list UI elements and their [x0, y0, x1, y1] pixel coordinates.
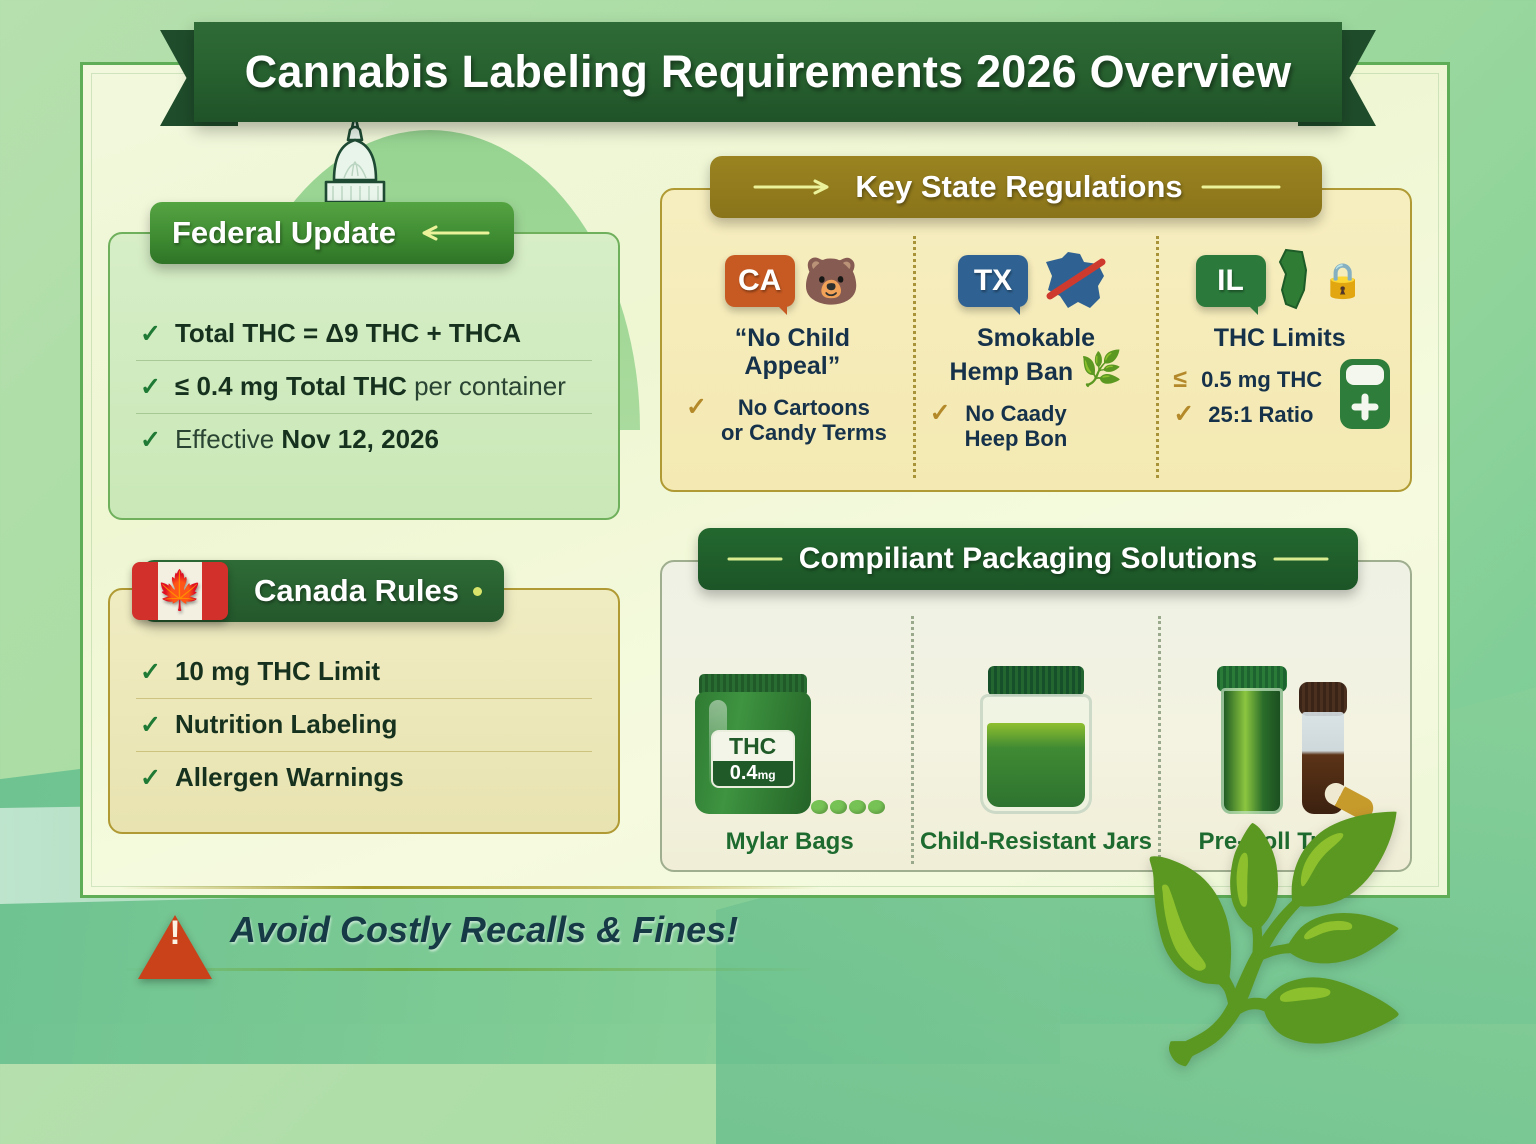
canada-item-2-text: Allergen Warnings [175, 763, 404, 793]
state-column-il: IL 🔒 THC Limits ≤ 0.5 mg THC ✓ 25:1 Rati… [1156, 236, 1400, 478]
texas-map-no-icon [1036, 248, 1114, 315]
canada-rules-title: Canada Rules [254, 573, 459, 609]
illinois-map-icon [1274, 248, 1314, 315]
check-icon: ✓ [140, 764, 161, 793]
arrow-left-icon [414, 225, 492, 241]
state-columns: CA 🐻 “No Child Appeal” ✓ No Cartoons or … [662, 190, 1410, 490]
tube-and-vial-icon [1215, 638, 1349, 814]
federal-item-2-date: Nov 12, 2026 [281, 424, 439, 454]
packaging-label-0: Mylar Bags [726, 828, 854, 856]
list-item: ✓ ≤ 0.4 mg Total THC per container [136, 360, 592, 413]
packaging-item-child-resistant-jars: Child-Resistant Jars [911, 616, 1157, 864]
check-icon: ✓ [140, 658, 161, 687]
list-item: ✓ No Cartoons or Candy Terms [686, 390, 899, 449]
title-ribbon: Cannabis Labeling Requirements 2026 Over… [0, 22, 1536, 132]
federal-update-card: Federal Update ✓ Total THC = Δ9 THC + TH… [108, 232, 620, 520]
list-item: ✓ Total THC = Δ9 THC + THCA [136, 308, 592, 360]
bullet-dot-icon [473, 587, 482, 596]
key-state-regulations-title: Key State Regulations [855, 169, 1182, 205]
cannabis-buds-icon [811, 800, 885, 814]
divider-line-left-icon [727, 556, 783, 562]
footer-rule-bottom [120, 968, 820, 971]
canada-item-1-text: Nutrition Labeling [175, 710, 397, 740]
state-tx-title-line1: Smokable [977, 324, 1095, 352]
check-icon: ✓ [930, 399, 951, 428]
state-tx-code: TX [974, 264, 1012, 298]
state-ca-bullets: ✓ No Cartoons or Candy Terms [686, 390, 899, 449]
thc-jar-icon: THC 0.4mg [695, 638, 885, 814]
list-item: ✓ No Caady Heep Bon [930, 396, 1143, 455]
divider-line-right-icon [1273, 556, 1329, 562]
state-il-bullets: ≤ 0.5 mg THC ✓ 25:1 Ratio [1173, 362, 1386, 432]
state-tx-title-line2: Hemp Ban [950, 358, 1074, 386]
federal-update-list: ✓ Total THC = Δ9 THC + THCA ✓ ≤ 0.4 mg T… [110, 234, 618, 476]
state-ca-code: CA [738, 264, 781, 298]
footer-warning: ! Avoid Costly Recalls & Fines! [138, 898, 738, 962]
state-il-bullet-1: 25:1 Ratio [1208, 402, 1313, 427]
packaging-solutions-header: Compiliant Packaging Solutions [698, 528, 1358, 590]
footer-rule-top [120, 886, 820, 889]
federal-item-1-text: ≤ 0.4 mg Total THC [175, 371, 407, 401]
state-ca-bullet-line2: or Candy Terms [721, 420, 887, 445]
state-tx-bullet-line1: No Caady [965, 401, 1066, 426]
thc-label-top: THC [713, 732, 793, 761]
child-resistant-pack-icon [1338, 357, 1392, 436]
cannabis-leaf-icon: 🌿 [1130, 824, 1416, 1054]
state-column-tx: TX Smokable Hemp Ban 🌿 ✓ No Caady [913, 236, 1157, 478]
federal-update-title: Federal Update [172, 215, 396, 251]
ribbon-banner: Cannabis Labeling Requirements 2026 Over… [194, 22, 1342, 122]
check-icon: ✓ [1173, 400, 1194, 429]
state-il-title: THC Limits [1214, 324, 1346, 352]
state-il-code: IL [1217, 264, 1244, 298]
federal-item-1-suffix: per container [407, 371, 566, 401]
state-tx-title: Smokable Hemp Ban 🌿 [950, 324, 1123, 386]
page-title: Cannabis Labeling Requirements 2026 Over… [245, 46, 1292, 98]
glass-jar-icon [980, 638, 1092, 814]
canada-rules-list: ✓ 10 mg THC Limit ✓ Nutrition Labeling ✓… [110, 590, 618, 814]
state-tx-header: TX [958, 242, 1114, 320]
canada-flag-icon: 🍁 [132, 562, 228, 620]
state-tx-bullets: ✓ No Caady Heep Bon [930, 396, 1143, 455]
list-item: ✓ Effective Nov 12, 2026 [136, 413, 592, 466]
list-item: ✓ 10 mg THC Limit [136, 646, 592, 698]
state-badge-ca: CA [725, 255, 795, 307]
canada-item-0-text: 10 mg THC Limit [175, 657, 380, 687]
state-il-bullet-0: 0.5 mg THC [1201, 367, 1322, 392]
check-icon: ✓ [140, 426, 161, 455]
state-badge-tx: TX [958, 255, 1028, 307]
list-item: ✓ Allergen Warnings [136, 751, 592, 804]
lte-icon: ≤ [1173, 365, 1187, 394]
state-badge-il: IL [1196, 255, 1266, 307]
check-icon: ✓ [140, 320, 161, 349]
state-ca-title: “No Child Appeal” [686, 324, 899, 380]
list-item: ✓ Nutrition Labeling [136, 698, 592, 751]
divider-line-icon [1201, 184, 1281, 190]
federal-update-header: Federal Update [150, 202, 514, 264]
state-column-ca: CA 🐻 “No Child Appeal” ✓ No Cartoons or … [672, 236, 913, 478]
canada-rules-header: 🍁 Canada Rules [142, 560, 504, 622]
state-tx-bullet-line2: Heep Bon [965, 426, 1068, 451]
arrow-right-icon [751, 179, 837, 195]
hemp-leaf-icon: 🌿 [1080, 350, 1122, 388]
canada-rules-card: 🍁 Canada Rules ✓ 10 mg THC Limit ✓ Nutri… [108, 588, 620, 834]
federal-item-0-text: Total THC = Δ9 THC + THCA [175, 319, 521, 349]
footer-warning-text: Avoid Costly Recalls & Fines! [230, 909, 738, 951]
packaging-label-1: Child-Resistant Jars [920, 828, 1152, 856]
federal-item-2-prefix: Effective [175, 424, 281, 454]
check-icon: ✓ [686, 393, 707, 422]
state-ca-header: CA 🐻 [725, 242, 860, 320]
bear-icon: 🐻 [803, 258, 860, 304]
warning-triangle-icon: ! [138, 898, 212, 962]
thc-label-unit: mg [758, 768, 776, 782]
check-icon: ✓ [140, 373, 161, 402]
padlock-icon: 🔒 [1322, 264, 1364, 298]
thc-label-value: 0.4 [730, 762, 758, 784]
key-state-regulations-card: Key State Regulations CA 🐻 “No Child App… [660, 188, 1412, 492]
packaging-item-mylar-bags: THC 0.4mg Mylar Bags [668, 616, 911, 864]
check-icon: ✓ [140, 711, 161, 740]
key-state-regulations-header: Key State Regulations [710, 156, 1322, 218]
state-il-header: IL 🔒 [1196, 242, 1364, 320]
state-ca-bullet-line1: No Cartoons [738, 395, 870, 420]
packaging-solutions-title: Compiliant Packaging Solutions [799, 542, 1257, 576]
